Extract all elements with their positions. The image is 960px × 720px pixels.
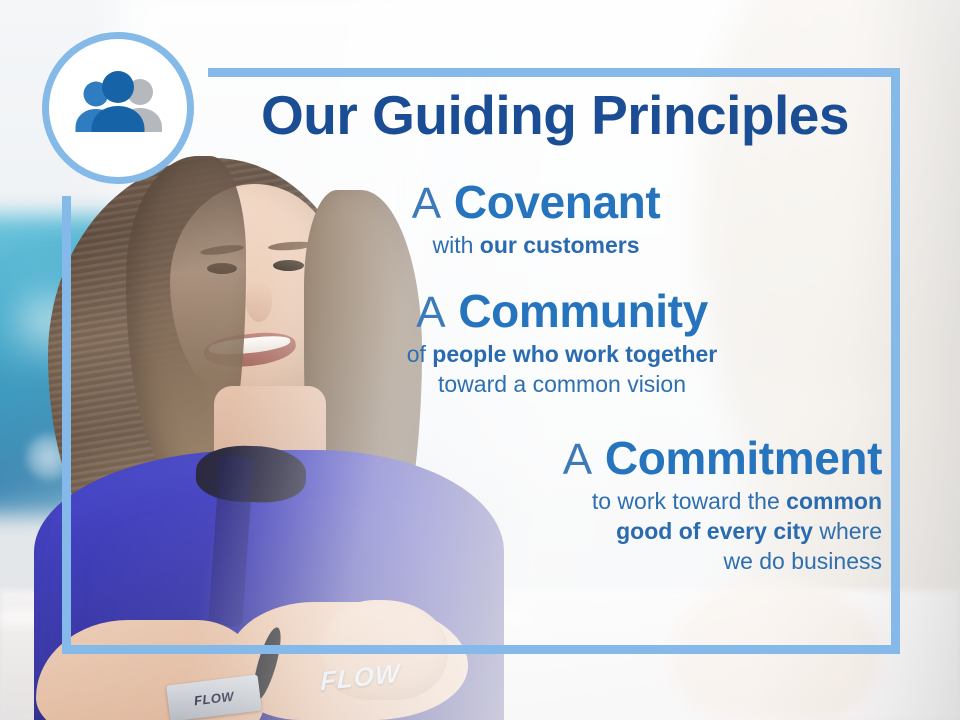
people-badge bbox=[42, 32, 194, 184]
frame-top-rule bbox=[208, 68, 900, 77]
principle-title: A Commitment bbox=[210, 434, 882, 483]
principle-article: A bbox=[416, 288, 445, 337]
subtitle-plain-3: we do business bbox=[723, 548, 882, 574]
subtitle-bold-1: common bbox=[786, 488, 882, 514]
principle-title: A Community bbox=[234, 287, 890, 336]
subtitle-plain-1: of bbox=[407, 341, 433, 367]
subtitle-bold-1: people who work together bbox=[432, 341, 717, 367]
principle-keyword: Covenant bbox=[454, 176, 660, 228]
subtitle-plain-1: with bbox=[432, 232, 479, 258]
group-of-people-icon bbox=[66, 70, 170, 146]
principle-commitment: A Commitment to work toward the common g… bbox=[210, 434, 890, 577]
subtitle-bold-2: good of every city bbox=[616, 518, 813, 544]
principle-subtitle: of people who work together toward a com… bbox=[234, 340, 890, 400]
page-title: Our Guiding Principles bbox=[210, 88, 900, 143]
principle-article: A bbox=[563, 435, 592, 484]
frame-left-rule bbox=[62, 196, 71, 654]
frame-bottom-rule bbox=[62, 645, 900, 654]
principle-keyword: Community bbox=[458, 285, 707, 337]
name-badge-logo-text: FLOW bbox=[193, 688, 235, 708]
guiding-principles-banner: FLOW FLOW Our Guiding Princip bbox=[0, 0, 960, 720]
subtitle-bold-1: our customers bbox=[480, 232, 640, 258]
principle-covenant: A Covenant with our customers bbox=[210, 178, 890, 261]
principle-subtitle: to work toward the common good of every … bbox=[462, 487, 882, 577]
principle-keyword: Commitment bbox=[605, 432, 882, 484]
principle-article: A bbox=[412, 179, 441, 228]
principle-title: A Covenant bbox=[210, 178, 862, 227]
frame-right-rule bbox=[891, 68, 900, 654]
principle-subtitle: with our customers bbox=[210, 231, 862, 261]
principle-community: A Community of people who work together … bbox=[210, 287, 890, 400]
subtitle-plain-2: where bbox=[813, 518, 882, 544]
subtitle-plain-2: toward a common vision bbox=[438, 371, 686, 397]
principles-list: A Covenant with our customers A Communit… bbox=[210, 178, 890, 593]
subtitle-plain-1: to work toward the bbox=[592, 488, 786, 514]
